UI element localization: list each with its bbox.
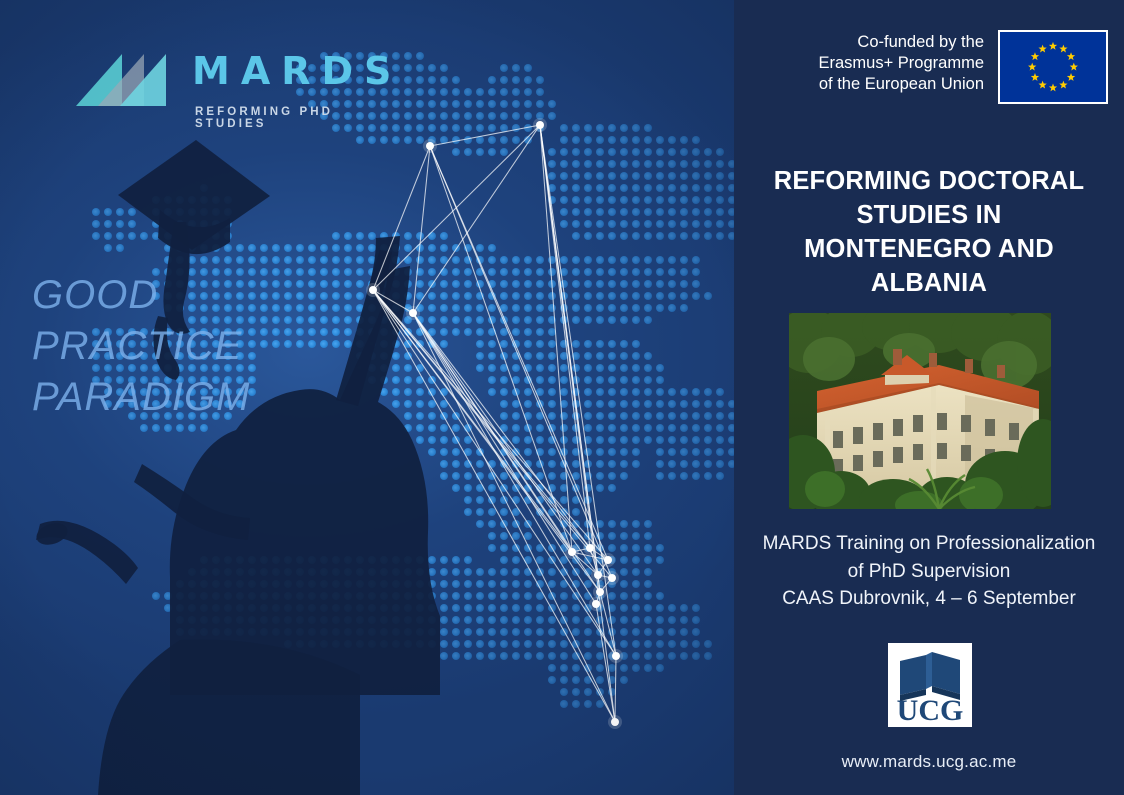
eu-funding-text: Co-funded by the Erasmus+ Programme of t… bbox=[818, 30, 984, 94]
brand-tagline: REFORMING PHD STUDIES bbox=[195, 106, 402, 130]
ucg-wordmark: UCG bbox=[897, 694, 964, 727]
headline-line-2: STUDIES IN bbox=[748, 199, 1110, 233]
eu-funding-block: Co-funded by the Erasmus+ Programme of t… bbox=[756, 30, 1108, 108]
eu-text-line-1: Co-funded by the bbox=[818, 32, 984, 53]
headline-line-4: ALBANIA bbox=[748, 267, 1110, 301]
event-line-1: MARDS Training on Professionalization bbox=[740, 530, 1118, 558]
brand-name: MARDS bbox=[192, 52, 402, 90]
ucg-book-logo-icon: UCG bbox=[888, 643, 972, 727]
website-url[interactable]: www.mards.ucg.ac.me bbox=[734, 752, 1124, 772]
eu-text-line-2: Erasmus+ Programme bbox=[818, 53, 984, 74]
left-panel: MARDS REFORMING PHD STUDIES GOOD PRACTIC… bbox=[0, 0, 734, 795]
headline-line-1: REFORMING DOCTORAL bbox=[748, 165, 1110, 199]
event-line-3: CAAS Dubrovnik, 4 – 6 September bbox=[740, 585, 1118, 613]
tagline-line-1: GOOD bbox=[32, 270, 362, 321]
headline-line-3: MONTENEGRO AND bbox=[748, 233, 1110, 267]
poster-root: MARDS REFORMING PHD STUDIES GOOD PRACTIC… bbox=[0, 0, 1124, 795]
tagline-line-3: PARADIGM bbox=[32, 372, 362, 423]
event-details: MARDS Training on Professionalization of… bbox=[740, 530, 1118, 613]
mards-logo: MARDS REFORMING PHD STUDIES bbox=[72, 30, 402, 135]
venue-photograph bbox=[789, 313, 1051, 509]
event-line-2: of PhD Supervision bbox=[740, 558, 1118, 586]
european-union-flag-icon bbox=[998, 30, 1108, 104]
eu-text-line-3: of the European Union bbox=[818, 74, 984, 95]
tagline-line-2: PRACTICE bbox=[32, 321, 362, 372]
good-practice-paradigm-text: GOOD PRACTICE PARADIGM bbox=[32, 270, 362, 424]
triangles-logo-icon bbox=[72, 32, 168, 112]
page-title: REFORMING DOCTORAL STUDIES IN MONTENEGRO… bbox=[748, 165, 1110, 301]
